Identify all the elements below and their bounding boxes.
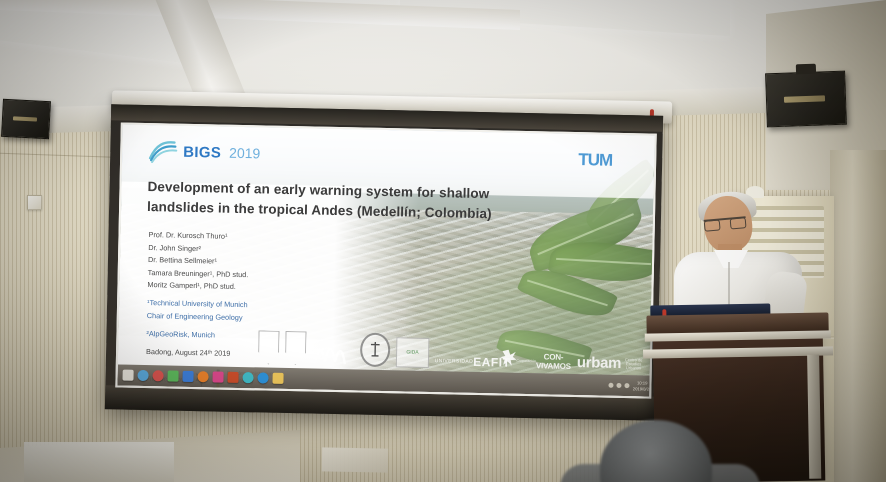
room-shading — [0, 0, 886, 482]
presentation-room-photo: BIGS 2019 TUM Development of an early wa… — [0, 0, 886, 482]
